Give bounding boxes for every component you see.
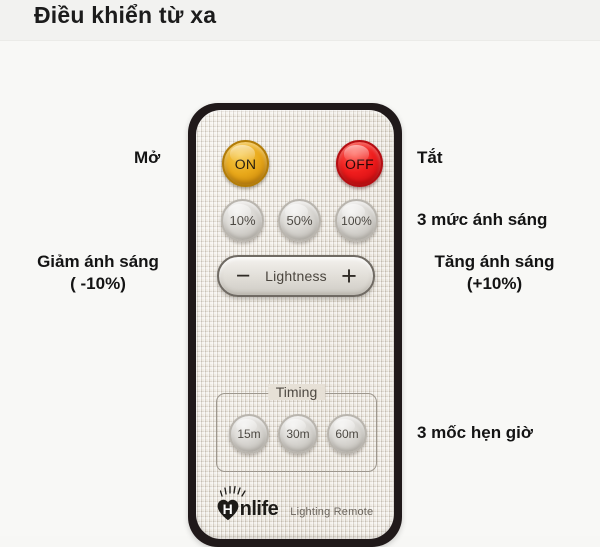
brightness-10-button[interactable]: 10% xyxy=(221,199,264,242)
timer-60m-button[interactable]: 60m xyxy=(327,414,367,454)
callout-power-on: Mở xyxy=(134,147,160,169)
power-on-label: ON xyxy=(222,140,269,187)
brand-word: nlife xyxy=(240,498,279,521)
remote-control: ON OFF 10% 50% 100% − Lightness + xyxy=(188,103,402,547)
brand-subtitle: Lighting Remote xyxy=(290,506,373,518)
callout-timer-presets: 3 mốc hẹn giờ xyxy=(417,422,533,444)
timing-group: Timing 15m 30m 60m xyxy=(216,393,377,472)
page-title: Điều khiển từ xa xyxy=(34,2,216,29)
lightness-label: Lightness xyxy=(265,268,327,284)
light-rays-icon xyxy=(220,485,246,499)
brightness-50-button[interactable]: 50% xyxy=(278,199,321,242)
callout-bright-line1: Tăng ánh sáng xyxy=(412,251,577,273)
power-off-button[interactable]: OFF xyxy=(336,140,383,187)
brand-mark: H nlife xyxy=(217,498,279,521)
heart-icon: H xyxy=(217,499,239,521)
timer-30m-label: 30m xyxy=(278,414,318,454)
timer-60m-label: 60m xyxy=(327,414,367,454)
power-off-label: OFF xyxy=(336,140,383,187)
remote-faceplate: ON OFF 10% 50% 100% − Lightness + xyxy=(196,110,394,539)
brightness-100-label: 100% xyxy=(335,199,378,242)
power-on-button[interactable]: ON xyxy=(222,140,269,187)
lightness-rocker[interactable]: − Lightness + xyxy=(217,255,375,297)
minus-icon[interactable]: − xyxy=(232,264,254,289)
brightness-100-button[interactable]: 100% xyxy=(335,199,378,242)
title-band: Điều khiển từ xa xyxy=(0,0,600,40)
timer-30m-button[interactable]: 30m xyxy=(278,414,318,454)
callout-dim-up: Tăng ánh sáng (+10%) xyxy=(412,251,577,296)
callout-dim-line1: Giảm ánh sáng xyxy=(18,251,178,273)
brightness-50-label: 50% xyxy=(278,199,321,242)
brightness-10-label: 10% xyxy=(221,199,264,242)
illustration-canvas: Mở Tắt 3 mức ánh sáng Giảm ánh sáng ( -1… xyxy=(0,41,600,536)
callout-dim-line2: ( -10%) xyxy=(18,273,178,295)
timer-15m-button[interactable]: 15m xyxy=(229,414,269,454)
plus-icon[interactable]: + xyxy=(338,263,360,290)
callout-power-off: Tắt xyxy=(417,147,443,169)
timing-legend: Timing xyxy=(268,384,326,400)
brand-mark-letter: H xyxy=(223,502,233,516)
callout-bright-line2: (+10%) xyxy=(412,273,577,295)
brand-lockup: H nlife Lighting Remote xyxy=(196,498,394,521)
timer-15m-label: 15m xyxy=(229,414,269,454)
callout-brightness-levels: 3 mức ánh sáng xyxy=(417,209,547,231)
callout-dim-down: Giảm ánh sáng ( -10%) xyxy=(18,251,178,296)
